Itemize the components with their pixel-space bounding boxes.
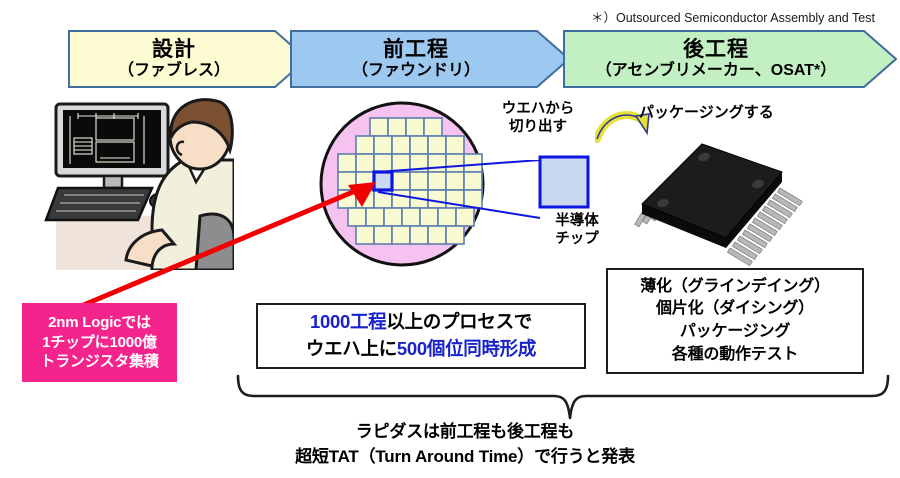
process-line1-accent: 1000工程 <box>310 311 386 332</box>
backend-line-4: 各種の動作テスト <box>672 344 798 367</box>
backend-detail-box: 薄化（グラインデイング） 個片化（ダイシング） パッケージング 各種の動作テスト <box>606 268 864 374</box>
process-line2-c: 同時形成 <box>463 338 536 359</box>
stage-chevron-backend[interactable]: 後工程 （アセンブリメーカー、OSAT*） <box>563 30 897 88</box>
bottom-caption-line1: ラピダスは前工程も後工程も <box>230 420 700 445</box>
process-line2-accent: 500個位 <box>397 338 463 359</box>
diagram-canvas: ＊）Outsourced Semiconductor Assembly and … <box>0 0 900 478</box>
backend-line-2: 個片化（ダイシング） <box>656 298 814 321</box>
stage-label-backend-sub: （アセンブリメーカー、OSAT*） <box>596 62 837 80</box>
bottom-caption-line2: 超短TAT（Turn Around Time）で行うと発表 <box>230 445 700 470</box>
stage-label-design-main: 設計 <box>118 38 230 62</box>
process-line2: ウエハ上に500個位同時形成 <box>306 336 536 363</box>
pink-callout-line1: 2nm Logicでは <box>48 313 151 333</box>
ic-package-illustration <box>630 130 840 270</box>
stage-label-backend-main: 後工程 <box>596 38 837 62</box>
wafer-cut-label: ウエハから 切り出す <box>485 100 591 136</box>
pink-callout-line2: 1チップに1000億 <box>42 333 157 353</box>
process-line1: 1000工程以上のプロセスで <box>310 309 532 336</box>
packaging-label: パッケージングする <box>639 104 799 123</box>
semiconductor-chip-box <box>538 155 590 209</box>
backend-line-3: パッケージング <box>680 321 790 344</box>
stage-chevron-frontend[interactable]: 前工程 （ファウンドリ） <box>290 30 570 88</box>
summary-curly-brace <box>232 374 892 420</box>
stage-chevron-design[interactable]: 設計 （ファブレス） <box>68 30 308 88</box>
process-line2-a: ウエハ上に <box>306 338 397 359</box>
pink-callout-box: 2nm Logicでは 1チップに1000億 トランジスタ集積 <box>22 303 177 382</box>
process-line1-rest: 以上のプロセスで <box>386 311 532 332</box>
stage-label-frontend-sub: （ファウンドリ） <box>352 62 480 80</box>
die-projection-lines <box>370 160 550 220</box>
backend-line-1: 薄化（グラインデイング） <box>640 276 830 299</box>
chip-label-line1: 半導体 <box>527 212 627 230</box>
stage-label-frontend-main: 前工程 <box>352 38 480 62</box>
process-detail-box: 1000工程以上のプロセスで ウエハ上に500個位同時形成 <box>256 303 586 369</box>
callout-red-arrow <box>60 175 390 315</box>
bottom-caption: ラピダスは前工程も後工程も 超短TAT（Turn Around Time）で行う… <box>230 420 700 469</box>
chip-label-line2: チップ <box>527 230 627 248</box>
stage-label-design-sub: （ファブレス） <box>118 62 230 80</box>
chip-label: 半導体 チップ <box>527 212 627 248</box>
pink-callout-line3: トランジスタ集積 <box>40 352 158 372</box>
osat-footnote: ＊）Outsourced Semiconductor Assembly and … <box>591 7 875 26</box>
wafer-cut-label-line2: 切り出す <box>485 118 591 136</box>
wafer-cut-label-line1: ウエハから <box>485 100 591 118</box>
